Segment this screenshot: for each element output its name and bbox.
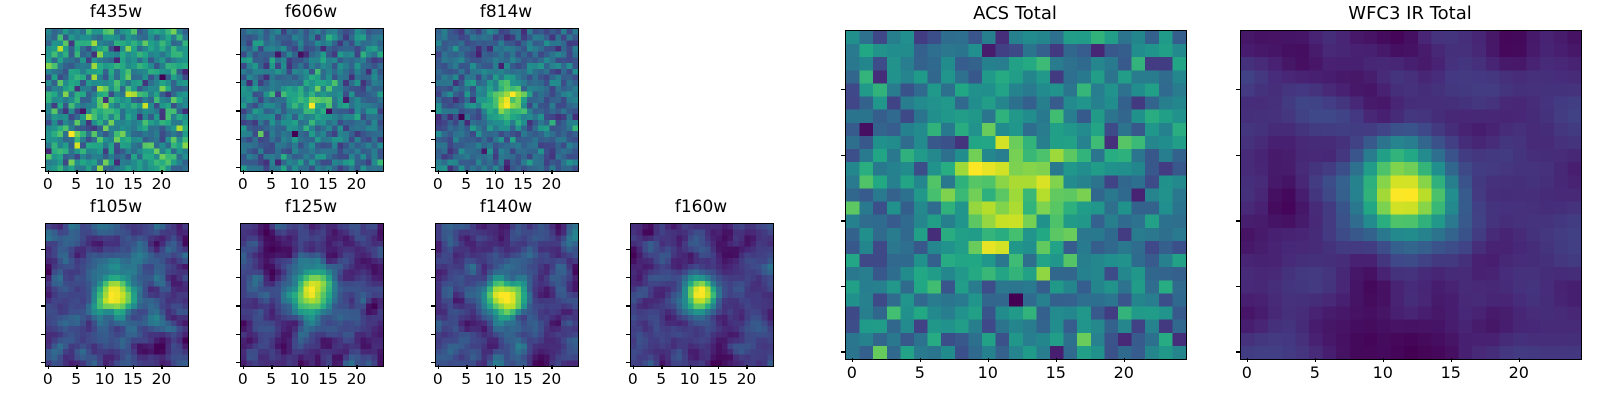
x-ticklabel-f814w-4: 20 (542, 177, 562, 193)
x-tick-f105w-3 (133, 365, 134, 369)
y-tick-f606w-0 (236, 167, 240, 168)
x-ticklabel-f160w-3: 15 (708, 372, 728, 388)
x-ticklabel-f105w-4: 20 (152, 372, 172, 388)
panel-title-f140w: f140w (435, 199, 577, 216)
x-tick-f125w-4 (356, 365, 357, 369)
x-tick-wfc3-ir-total-4 (1519, 358, 1520, 362)
y-tick-f105w-2 (41, 305, 45, 306)
y-tick-acs-total-0 (841, 351, 845, 352)
x-ticklabel-wfc3-ir-total-2: 10 (1373, 365, 1393, 381)
y-tick-f814w-0 (431, 167, 435, 168)
panel-title-f606w: f606w (240, 4, 382, 21)
x-tick-f160w-1 (661, 365, 662, 369)
x-tick-f606w-3 (328, 170, 329, 174)
heatmap-axes-f160w (630, 223, 774, 367)
x-ticklabel-f606w-2: 10 (290, 177, 310, 193)
x-tick-f160w-0 (633, 365, 634, 369)
x-ticklabel-f435w-2: 10 (95, 177, 115, 193)
x-ticklabel-acs-total-1: 5 (915, 365, 925, 381)
y-tick-wfc3-ir-total-3 (1236, 155, 1240, 156)
x-tick-f105w-0 (48, 365, 49, 369)
y-tick-f160w-3 (626, 277, 630, 278)
y-tick-wfc3-ir-total-0 (1236, 351, 1240, 352)
x-tick-acs-total-4 (1124, 358, 1125, 362)
heatmap-axes-f435w (45, 28, 189, 172)
x-tick-f140w-3 (523, 365, 524, 369)
x-tick-f606w-4 (356, 170, 357, 174)
x-tick-wfc3-ir-total-2 (1383, 358, 1384, 362)
x-tick-f105w-4 (161, 365, 162, 369)
x-ticklabel-f606w-3: 15 (318, 177, 338, 193)
y-tick-f814w-2 (431, 110, 435, 111)
y-tick-f105w-1 (41, 334, 45, 335)
heatmap-axes-f814w (435, 28, 579, 172)
x-ticklabel-f160w-2: 10 (680, 372, 700, 388)
x-ticklabel-f435w-4: 20 (152, 177, 172, 193)
panel-title-f125w: f125w (240, 199, 382, 216)
heatmap-axes-wfc3-ir-total (1240, 30, 1582, 360)
y-tick-wfc3-ir-total-4 (1236, 89, 1240, 90)
heatmap-image-f435w (46, 29, 188, 171)
y-tick-f160w-4 (626, 249, 630, 250)
x-tick-f125w-0 (243, 365, 244, 369)
x-tick-f105w-1 (76, 365, 77, 369)
x-tick-acs-total-2 (988, 358, 989, 362)
x-tick-wfc3-ir-total-1 (1315, 358, 1316, 362)
x-tick-f140w-4 (551, 365, 552, 369)
x-ticklabel-f160w-1: 5 (656, 372, 666, 388)
panel-title-f160w: f160w (630, 199, 772, 216)
x-ticklabel-acs-total-0: 0 (847, 365, 857, 381)
y-tick-f160w-1 (626, 334, 630, 335)
x-tick-acs-total-3 (1056, 358, 1057, 362)
heatmap-image-f125w (241, 224, 383, 366)
y-tick-f435w-0 (41, 167, 45, 168)
x-tick-f606w-0 (243, 170, 244, 174)
x-tick-f435w-1 (76, 170, 77, 174)
x-tick-acs-total-0 (852, 358, 853, 362)
y-tick-f125w-0 (236, 362, 240, 363)
heatmap-axes-f606w (240, 28, 384, 172)
y-tick-f125w-3 (236, 277, 240, 278)
x-ticklabel-f606w-1: 5 (266, 177, 276, 193)
x-ticklabel-f140w-2: 10 (485, 372, 505, 388)
y-tick-f140w-1 (431, 334, 435, 335)
x-tick-f125w-1 (271, 365, 272, 369)
x-tick-f814w-1 (466, 170, 467, 174)
y-tick-f105w-0 (41, 362, 45, 363)
x-tick-f814w-4 (551, 170, 552, 174)
x-tick-wfc3-ir-total-3 (1451, 358, 1452, 362)
y-tick-f140w-3 (431, 277, 435, 278)
x-ticklabel-f105w-0: 0 (43, 372, 53, 388)
y-tick-acs-total-4 (841, 89, 845, 90)
x-tick-wfc3-ir-total-0 (1247, 358, 1248, 362)
x-ticklabel-wfc3-ir-total-1: 5 (1310, 365, 1320, 381)
x-ticklabel-f140w-3: 15 (513, 372, 533, 388)
x-tick-f140w-2 (495, 365, 496, 369)
x-ticklabel-f125w-1: 5 (266, 372, 276, 388)
x-tick-acs-total-1 (920, 358, 921, 362)
x-tick-f606w-1 (271, 170, 272, 174)
x-ticklabel-f105w-3: 15 (123, 372, 143, 388)
x-tick-f435w-0 (48, 170, 49, 174)
x-ticklabel-f125w-0: 0 (238, 372, 248, 388)
heatmap-axes-f105w (45, 223, 189, 367)
y-tick-acs-total-2 (841, 220, 845, 221)
y-tick-wfc3-ir-total-1 (1236, 286, 1240, 287)
y-tick-f435w-2 (41, 110, 45, 111)
y-tick-f160w-0 (626, 362, 630, 363)
x-tick-f160w-2 (690, 365, 691, 369)
x-tick-f160w-3 (718, 365, 719, 369)
y-tick-acs-total-1 (841, 286, 845, 287)
heatmap-image-f140w (436, 224, 578, 366)
heatmap-image-f105w (46, 224, 188, 366)
y-tick-f814w-3 (431, 82, 435, 83)
y-tick-f125w-2 (236, 305, 240, 306)
y-tick-f606w-3 (236, 82, 240, 83)
y-tick-acs-total-3 (841, 155, 845, 156)
y-tick-f160w-2 (626, 305, 630, 306)
heatmap-image-wfc3-ir-total (1241, 31, 1581, 359)
x-ticklabel-f435w-0: 0 (43, 177, 53, 193)
y-tick-f125w-1 (236, 334, 240, 335)
figure-canvas: f435w0510152005101520f606w05101520051015… (0, 0, 1600, 400)
y-tick-f140w-4 (431, 249, 435, 250)
y-tick-f606w-2 (236, 110, 240, 111)
heatmap-axes-f140w (435, 223, 579, 367)
x-ticklabel-f814w-0: 0 (433, 177, 443, 193)
heatmap-image-f160w (631, 224, 773, 366)
x-ticklabel-f140w-0: 0 (433, 372, 443, 388)
y-tick-f814w-4 (431, 54, 435, 55)
heatmap-axes-acs-total (845, 30, 1187, 360)
y-tick-f140w-0 (431, 362, 435, 363)
x-ticklabel-f814w-2: 10 (485, 177, 505, 193)
x-tick-f814w-2 (495, 170, 496, 174)
x-ticklabel-acs-total-2: 10 (978, 365, 998, 381)
x-ticklabel-wfc3-ir-total-0: 0 (1242, 365, 1252, 381)
heatmap-image-acs-total (846, 31, 1186, 359)
panel-title-acs-total: ACS Total (845, 5, 1185, 23)
x-ticklabel-f105w-1: 5 (71, 372, 81, 388)
panel-title-f814w: f814w (435, 4, 577, 21)
x-tick-f105w-2 (105, 365, 106, 369)
x-ticklabel-f125w-4: 20 (347, 372, 367, 388)
heatmap-image-f814w (436, 29, 578, 171)
x-tick-f814w-3 (523, 170, 524, 174)
y-tick-f125w-4 (236, 249, 240, 250)
y-tick-f606w-1 (236, 139, 240, 140)
panel-title-wfc3-ir-total: WFC3 IR Total (1240, 5, 1580, 23)
y-tick-wfc3-ir-total-2 (1236, 220, 1240, 221)
y-tick-f435w-1 (41, 139, 45, 140)
x-tick-f160w-4 (746, 365, 747, 369)
x-tick-f125w-3 (328, 365, 329, 369)
x-ticklabel-wfc3-ir-total-4: 20 (1509, 365, 1529, 381)
x-ticklabel-f606w-4: 20 (347, 177, 367, 193)
y-tick-f814w-1 (431, 139, 435, 140)
x-ticklabel-f125w-2: 10 (290, 372, 310, 388)
panel-title-f105w: f105w (45, 199, 187, 216)
x-ticklabel-acs-total-3: 15 (1046, 365, 1066, 381)
x-ticklabel-wfc3-ir-total-3: 15 (1441, 365, 1461, 381)
x-ticklabel-f140w-1: 5 (461, 372, 471, 388)
x-tick-f125w-2 (300, 365, 301, 369)
x-ticklabel-f435w-3: 15 (123, 177, 143, 193)
x-ticklabel-f125w-3: 15 (318, 372, 338, 388)
panel-title-f435w: f435w (45, 4, 187, 21)
x-ticklabel-f814w-3: 15 (513, 177, 533, 193)
x-ticklabel-acs-total-4: 20 (1114, 365, 1134, 381)
y-tick-f105w-3 (41, 277, 45, 278)
x-ticklabel-f160w-0: 0 (628, 372, 638, 388)
y-tick-f105w-4 (41, 249, 45, 250)
x-tick-f435w-3 (133, 170, 134, 174)
y-tick-f606w-4 (236, 54, 240, 55)
x-ticklabel-f105w-2: 10 (95, 372, 115, 388)
x-tick-f435w-4 (161, 170, 162, 174)
y-tick-f435w-4 (41, 54, 45, 55)
heatmap-axes-f125w (240, 223, 384, 367)
x-ticklabel-f606w-0: 0 (238, 177, 248, 193)
x-ticklabel-f814w-1: 5 (461, 177, 471, 193)
x-ticklabel-f435w-1: 5 (71, 177, 81, 193)
y-tick-f140w-2 (431, 305, 435, 306)
x-tick-f606w-2 (300, 170, 301, 174)
y-tick-f435w-3 (41, 82, 45, 83)
x-tick-f140w-1 (466, 365, 467, 369)
heatmap-image-f606w (241, 29, 383, 171)
x-tick-f814w-0 (438, 170, 439, 174)
x-tick-f140w-0 (438, 365, 439, 369)
x-ticklabel-f140w-4: 20 (542, 372, 562, 388)
x-tick-f435w-2 (105, 170, 106, 174)
x-ticklabel-f160w-4: 20 (737, 372, 757, 388)
